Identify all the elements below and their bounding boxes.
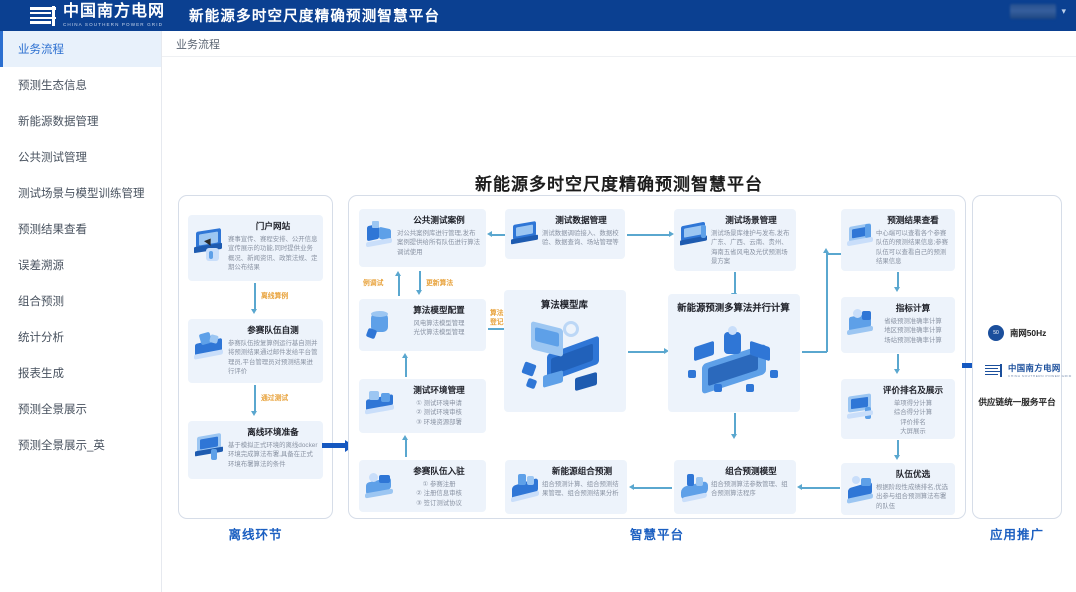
card-test-data[interactable]: 测试数据管理 测试数据调验接入、数据校验、数据查询、场站管理等 bbox=[505, 209, 625, 259]
card-combo-forecast-body: 组合预测计算、组合预测结果管理、组合预测结果分析 bbox=[542, 480, 622, 499]
promo-item-csg-label-en: CHINA SOUTHERN POWER GRID bbox=[1008, 374, 1072, 378]
card-combo-model-body: 组合预测算法参数管理、组合预测算法程序 bbox=[711, 480, 791, 499]
laptop-data-icon bbox=[192, 325, 228, 369]
scene-manage-icon bbox=[678, 215, 711, 259]
arrow-env-to-config bbox=[405, 357, 407, 377]
card-team-entry[interactable]: 参赛队伍入驻 ① 参赛注册 ② 注册信息审核 ③ 签订测试协议 bbox=[359, 460, 486, 512]
panel-promotion bbox=[972, 195, 1062, 519]
team-entry-line-2: ② 注册信息审核 bbox=[397, 489, 481, 498]
arrow-update-algo-head bbox=[416, 290, 422, 295]
card-self-test[interactable]: 参赛队伍自测 参赛队伍按复算例运行基自测并将预测结果通过邮件发给平台管理员,平台… bbox=[188, 319, 323, 383]
brand-block: 中国南方电网 CHINA SOUTHERN POWER GRID bbox=[30, 4, 165, 27]
card-env-prep-body: 基于模拟正式环境的离线docker环境完成算法布署,具备在正式环境布署算法的条件 bbox=[228, 441, 318, 469]
ranking-line-4: 大屏展示 bbox=[876, 427, 950, 436]
promo-item-csg-label-cn: 中国南方电网 bbox=[1008, 362, 1072, 374]
parallel-compute-icon bbox=[684, 320, 784, 400]
sidebar-item-new-energy-data[interactable]: 新能源数据管理 bbox=[0, 103, 161, 139]
card-ranking-display[interactable]: 评价排名及展示 单项得分计算 综合得分计算 评价排名 大屏展示 bbox=[841, 379, 955, 439]
breadcrumb: 业务流程 bbox=[162, 31, 1076, 57]
algo-config-line-2: 光伏算法模型管理 bbox=[397, 328, 481, 337]
content-area: 业务流程 新能源多时空尺度精确预测智慧平台 离线环节 门户网站 赛事宣传、赛程安… bbox=[162, 31, 1076, 592]
arrow-update-algo bbox=[419, 271, 421, 291]
arrow-ranking-to-teamselect bbox=[897, 440, 899, 456]
breadcrumb-current: 业务流程 bbox=[176, 36, 220, 52]
model-library-icon bbox=[517, 315, 613, 399]
arrow-parallel-to-results-v bbox=[826, 253, 828, 352]
arrow-testdata-to-scene bbox=[627, 234, 670, 236]
promo-item-nanwang50hz-label: 南网50Hz bbox=[1010, 327, 1046, 339]
card-test-data-title: 测试数据管理 bbox=[542, 215, 620, 226]
card-ranking-display-title: 评价排名及展示 bbox=[876, 385, 950, 396]
card-parallel-compute[interactable]: 新能源预测多算法并行计算 bbox=[668, 294, 800, 412]
arrow-teamselect-to-combomodel bbox=[802, 487, 840, 489]
arrow-label-debug: 例调试 bbox=[363, 277, 383, 287]
card-public-case-body: 对公共案例库进行管理,发布案例提供给所有队伍进行算法调试使用 bbox=[397, 229, 481, 257]
sidebar-item-scene-model-training[interactable]: 测试场景与模型训练管理 bbox=[0, 175, 161, 211]
arrow-parallel-to-combo bbox=[734, 413, 736, 435]
card-public-case-title: 公共测试案例 bbox=[397, 215, 481, 226]
avatar bbox=[1010, 4, 1056, 19]
card-test-scene-title: 测试场景管理 bbox=[711, 215, 791, 226]
arrow-debug-head bbox=[395, 271, 401, 276]
arrow-combomodel-to-comboforecast-head bbox=[629, 484, 634, 490]
test-env-line-1: ① 测试环境申请 bbox=[397, 399, 481, 408]
panel-label-offline: 离线环节 bbox=[178, 524, 333, 543]
user-menu[interactable]: ▾ bbox=[1010, 4, 1066, 19]
arrow-parallel-to-combo-head bbox=[731, 434, 737, 439]
arrow-offline-1 bbox=[254, 283, 256, 310]
card-result-view-title: 预测结果查看 bbox=[876, 215, 950, 226]
card-test-data-body: 测试数据调验接入、数据校验、数据查询、场站管理等 bbox=[542, 229, 620, 248]
brand-name-en: CHINA SOUTHERN POWER GRID bbox=[63, 22, 165, 27]
sidebar-item-error-tracing[interactable]: 误差溯源 bbox=[0, 247, 161, 283]
arrow-results-connector bbox=[826, 253, 841, 255]
card-self-test-body: 参赛队伍按复算例运行基自测并将预测结果通过邮件发给平台管理员,平台管理员对预测结… bbox=[228, 339, 318, 377]
arrow-scene-to-parallel bbox=[734, 272, 736, 294]
panel-label-promotion: 应用推广 bbox=[972, 524, 1062, 543]
card-portal-title: 门户网站 bbox=[228, 221, 318, 232]
sidebar-item-panorama-en[interactable]: 预测全景展示_英 bbox=[0, 427, 161, 463]
card-parallel-compute-title: 新能源预测多算法并行计算 bbox=[677, 302, 790, 314]
card-algo-config[interactable]: 算法模型配置 风电算法模型管理 光伏算法模型管理 bbox=[359, 299, 486, 351]
card-self-test-title: 参赛队伍自测 bbox=[228, 325, 318, 336]
card-ranking-display-lines: 单项得分计算 综合得分计算 评价排名 大屏展示 bbox=[876, 399, 950, 437]
arrow-label-algo-register-2: 登记 bbox=[490, 316, 504, 326]
card-combo-forecast[interactable]: 新能源组合预测 组合预测计算、组合预测结果管理、组合预测结果分析 bbox=[505, 460, 627, 514]
card-result-view[interactable]: 预测结果查看 中心端可以查看各个参赛队伍的预测结果信息;参赛队伍可以查看自己的预… bbox=[841, 209, 955, 271]
nanwang-50hz-badge-icon: 50 bbox=[988, 325, 1004, 341]
arrow-teamselect-to-combomodel-head bbox=[797, 484, 802, 490]
card-test-env-title: 测试环境管理 bbox=[397, 385, 481, 396]
team-select-icon bbox=[845, 469, 876, 509]
result-view-icon bbox=[845, 215, 876, 259]
team-entry-line-1: ① 参赛注册 bbox=[397, 480, 481, 489]
arrow-metric-to-ranking-head bbox=[894, 369, 900, 374]
metric-line-2: 地区预测准确率计算 bbox=[876, 326, 950, 335]
metric-calc-icon bbox=[845, 303, 876, 345]
card-team-select-body: 根据阶段性成绩排名,优选出参与组合预测算法布署的队伍 bbox=[876, 483, 950, 511]
sidebar-item-forecast-eco-info[interactable]: 预测生态信息 bbox=[0, 67, 161, 103]
arrow-ranking-to-teamselect-head bbox=[894, 455, 900, 460]
card-model-library-title: 算法模型库 bbox=[541, 299, 588, 311]
card-model-library[interactable]: 算法模型库 bbox=[504, 290, 626, 412]
case-library-icon bbox=[363, 215, 397, 259]
promo-item-csg[interactable]: 中国南方电网 CHINA SOUTHERN POWER GRID bbox=[985, 362, 1072, 378]
sidebar-item-public-test[interactable]: 公共测试管理 bbox=[0, 139, 161, 175]
card-metric-calc[interactable]: 指标计算 省级预测准确率计算 地区预测准确率计算 场站预测准确率计算 bbox=[841, 297, 955, 353]
arrow-team-to-env-head bbox=[402, 435, 408, 440]
card-combo-forecast-title: 新能源组合预测 bbox=[542, 466, 622, 477]
card-team-entry-title: 参赛队伍入驻 bbox=[397, 466, 481, 477]
panel-label-platform: 智慧平台 bbox=[348, 524, 966, 543]
app-header: 中国南方电网 CHINA SOUTHERN POWER GRID 新能源多时空尺… bbox=[0, 0, 1076, 31]
team-register-icon bbox=[363, 466, 397, 506]
arrow-combomodel-to-comboforecast bbox=[634, 487, 672, 489]
diagram-canvas: 新能源多时空尺度精确预测智慧平台 离线环节 门户网站 赛事宣传、赛程安排、公开信… bbox=[162, 57, 1076, 592]
card-result-view-body: 中心端可以查看各个参赛队伍的预测结果信息;参赛队伍可以查看自己的预测结果信息 bbox=[876, 229, 950, 267]
card-algo-config-lines: 风电算法模型管理 光伏算法模型管理 bbox=[397, 319, 481, 338]
workstation-icon bbox=[363, 385, 397, 427]
ranking-line-2: 综合得分计算 bbox=[876, 408, 950, 417]
card-public-case[interactable]: 公共测试案例 对公共案例库进行管理,发布案例提供给所有队伍进行算法调试使用 bbox=[359, 209, 486, 267]
card-algo-config-title: 算法模型配置 bbox=[397, 305, 481, 316]
metric-line-3: 场站预测准确率计算 bbox=[876, 336, 950, 345]
promo-footer-label: 供应链统一服务平台 bbox=[972, 396, 1062, 408]
card-combo-model[interactable]: 组合预测模型 组合预测算法参数管理、组合预测算法程序 bbox=[674, 460, 796, 514]
arrow-env-to-config-head bbox=[402, 353, 408, 358]
arrow-label-update-algo: 更新算法 bbox=[426, 277, 453, 287]
card-portal[interactable]: 门户网站 赛事宣传、赛程安排、公开信息宣传展示的功能,同时提供业务概况、新闻资讯… bbox=[188, 215, 323, 281]
sidebar-item-report-generation[interactable]: 报表生成 bbox=[0, 355, 161, 391]
test-env-line-2: ② 测试环境审核 bbox=[397, 408, 481, 417]
combo-model-icon bbox=[678, 466, 711, 508]
arrow-testdata-to-case bbox=[492, 234, 505, 236]
card-test-scene[interactable]: 测试场景管理 测试场景库维护与发布,发布广东、广西、云南、贵州、海南五省风电及光… bbox=[674, 209, 796, 271]
ranking-display-icon bbox=[845, 385, 876, 431]
arrow-offline-2-head bbox=[251, 411, 257, 416]
arrow-label-offline-pass: 通过测试 bbox=[261, 392, 288, 402]
algo-config-line-1: 风电算法模型管理 bbox=[397, 319, 481, 328]
card-test-env[interactable]: 测试环境管理 ① 测试环境申请 ② 测试环境审核 ③ 环境资源部署 bbox=[359, 379, 486, 433]
metric-line-1: 省级预测准确率计算 bbox=[876, 317, 950, 326]
sidebar-item-statistics[interactable]: 统计分析 bbox=[0, 319, 161, 355]
arrow-view-to-metric bbox=[897, 272, 899, 288]
card-combo-model-title: 组合预测模型 bbox=[711, 466, 791, 477]
diagram-title: 新能源多时空尺度精确预测智慧平台 bbox=[162, 170, 1076, 195]
promo-item-nanwang50hz[interactable]: 50 南网50Hz bbox=[988, 325, 1046, 341]
arrow-debug bbox=[398, 276, 400, 296]
arrow-modellib-to-parallel bbox=[628, 351, 665, 353]
team-entry-line-3: ③ 签订测试协议 bbox=[397, 499, 481, 508]
arrow-team-to-env bbox=[405, 439, 407, 457]
server-deploy-icon bbox=[192, 427, 228, 467]
sidebar-item-combined-forecast[interactable]: 组合预测 bbox=[0, 283, 161, 319]
ranking-line-3: 评价排名 bbox=[876, 418, 950, 427]
arrow-metric-to-ranking bbox=[897, 354, 899, 370]
power-grid-logo-icon bbox=[985, 365, 1002, 376]
ranking-line-1: 单项得分计算 bbox=[876, 399, 950, 408]
arrow-view-to-metric-head bbox=[894, 287, 900, 292]
card-team-select-title: 队伍优选 bbox=[876, 469, 950, 480]
app-title: 新能源多时空尺度精确预测智慧平台 bbox=[189, 5, 440, 26]
test-env-line-3: ③ 环境资源部署 bbox=[397, 418, 481, 427]
arrow-offline-to-platform bbox=[322, 443, 346, 448]
sidebar-item-business-process[interactable]: 业务流程 bbox=[0, 31, 161, 67]
arrow-parallel-to-results bbox=[802, 351, 827, 353]
sidebar-item-forecast-result-view[interactable]: 预测结果查看 bbox=[0, 211, 161, 247]
card-metric-calc-title: 指标计算 bbox=[876, 303, 950, 314]
card-team-select[interactable]: 队伍优选 根据阶段性成绩排名,优选出参与组合预测算法布署的队伍 bbox=[841, 463, 955, 515]
card-env-prep[interactable]: 离线环境准备 基于模拟正式环境的离线docker环境完成算法布署,具备在正式环境… bbox=[188, 421, 323, 479]
power-grid-logo-icon bbox=[30, 7, 56, 24]
database-config-icon bbox=[363, 305, 397, 345]
sidebar: 业务流程 预测生态信息 新能源数据管理 公共测试管理 测试场景与模型训练管理 预… bbox=[0, 31, 162, 592]
card-portal-body: 赛事宣传、赛程安排、公开信息宣传展示的功能,同时提供业务概况、新闻资讯、政策法规… bbox=[228, 235, 318, 273]
arrow-offline-1-head bbox=[251, 309, 257, 314]
card-team-entry-lines: ① 参赛注册 ② 注册信息审核 ③ 签订测试协议 bbox=[397, 480, 481, 508]
arrow-offline-2 bbox=[254, 385, 256, 412]
data-manage-icon bbox=[509, 215, 542, 253]
card-test-env-lines: ① 测试环境申请 ② 测试环境审核 ③ 环境资源部署 bbox=[397, 399, 481, 427]
card-metric-calc-lines: 省级预测准确率计算 地区预测准确率计算 场站预测准确率计算 bbox=[876, 317, 950, 345]
arrow-label-offline-case: 离线算例 bbox=[261, 290, 288, 300]
arrow-testdata-to-case-head bbox=[487, 231, 492, 237]
chevron-down-icon[interactable]: ▾ bbox=[1061, 6, 1066, 17]
sidebar-item-panorama[interactable]: 预测全景展示 bbox=[0, 391, 161, 427]
card-test-scene-body: 测试场景库维护与发布,发布广东、广西、云南、贵州、海南五省风电及光伏预测场景方案 bbox=[711, 229, 791, 267]
combo-forecast-icon bbox=[509, 466, 542, 508]
card-env-prep-title: 离线环境准备 bbox=[228, 427, 318, 438]
brand-name-cn: 中国南方电网 bbox=[63, 4, 165, 20]
